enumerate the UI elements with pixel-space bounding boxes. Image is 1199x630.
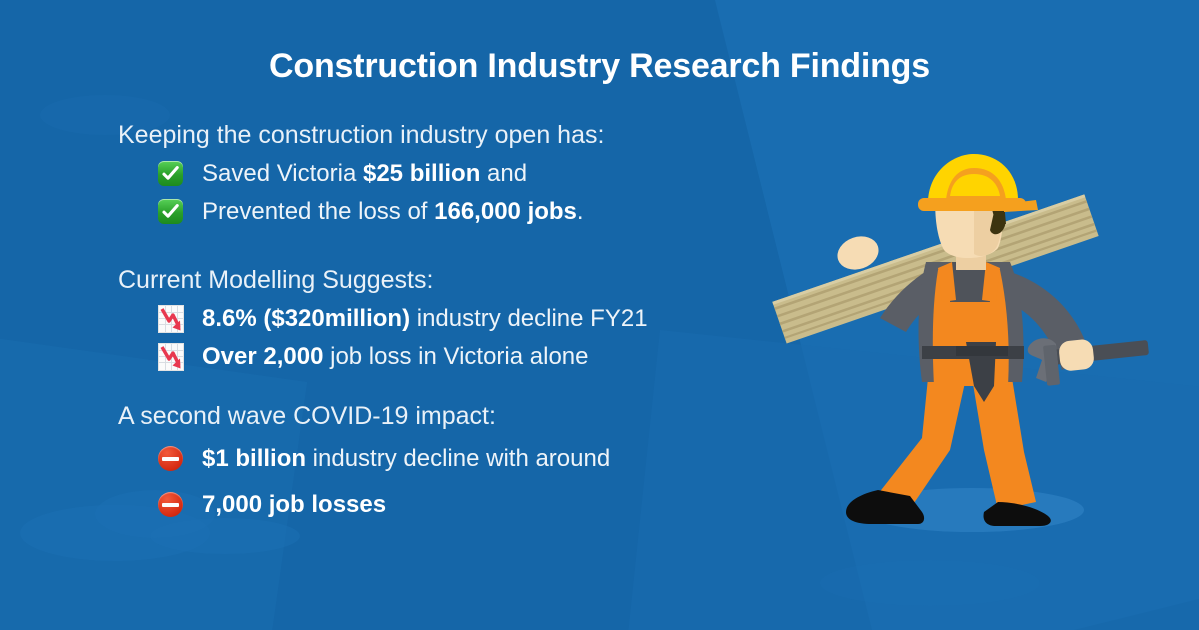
bullet-list: Saved Victoria $25 billion and Prevented… bbox=[118, 155, 604, 231]
chart-decreasing-icon bbox=[158, 305, 202, 333]
list-item: 7,000 job losses bbox=[118, 482, 610, 528]
bullet-text: Prevented the loss of 166,000 jobs. bbox=[202, 199, 584, 224]
list-item: Prevented the loss of 166,000 jobs. bbox=[118, 193, 604, 231]
chart-decreasing-icon bbox=[158, 343, 202, 371]
white-heavy-check-mark-icon bbox=[158, 199, 202, 224]
page-title: Construction Industry Research Findings bbox=[0, 47, 1199, 86]
bullet-text: Over 2,000 job loss in Victoria alone bbox=[202, 344, 588, 369]
section-heading: Current Modelling Suggests: bbox=[118, 265, 648, 296]
section-second-wave-impact: A second wave COVID-19 impact: $1 billio… bbox=[118, 401, 610, 528]
no-entry-icon bbox=[158, 492, 202, 517]
white-heavy-check-mark-icon bbox=[158, 161, 202, 186]
infographic-canvas: Construction Industry Research Findings … bbox=[0, 0, 1199, 630]
bullet-list: $1 billion industry decline with around … bbox=[118, 436, 610, 528]
bullet-list: 8.6% ($320million) industry decline FY21 bbox=[118, 300, 648, 376]
list-item: 8.6% ($320million) industry decline FY21 bbox=[118, 300, 648, 338]
construction-worker-carrying-timber-illustration bbox=[760, 150, 1190, 570]
section-current-modelling: Current Modelling Suggests: bbox=[118, 265, 648, 376]
list-item: Saved Victoria $25 billion and bbox=[118, 155, 604, 193]
bullet-text: $1 billion industry decline with around bbox=[202, 446, 610, 471]
section-heading: A second wave COVID-19 impact: bbox=[118, 401, 610, 432]
bullet-text: 7,000 job losses bbox=[202, 492, 386, 517]
bullet-text: 8.6% ($320million) industry decline FY21 bbox=[202, 306, 648, 331]
list-item: Over 2,000 job loss in Victoria alone bbox=[118, 338, 648, 376]
section-keeping-industry-open: Keeping the construction industry open h… bbox=[118, 120, 604, 231]
bullet-text: Saved Victoria $25 billion and bbox=[202, 161, 527, 186]
list-item: $1 billion industry decline with around bbox=[118, 436, 610, 482]
no-entry-icon bbox=[158, 446, 202, 471]
section-heading: Keeping the construction industry open h… bbox=[118, 120, 604, 151]
